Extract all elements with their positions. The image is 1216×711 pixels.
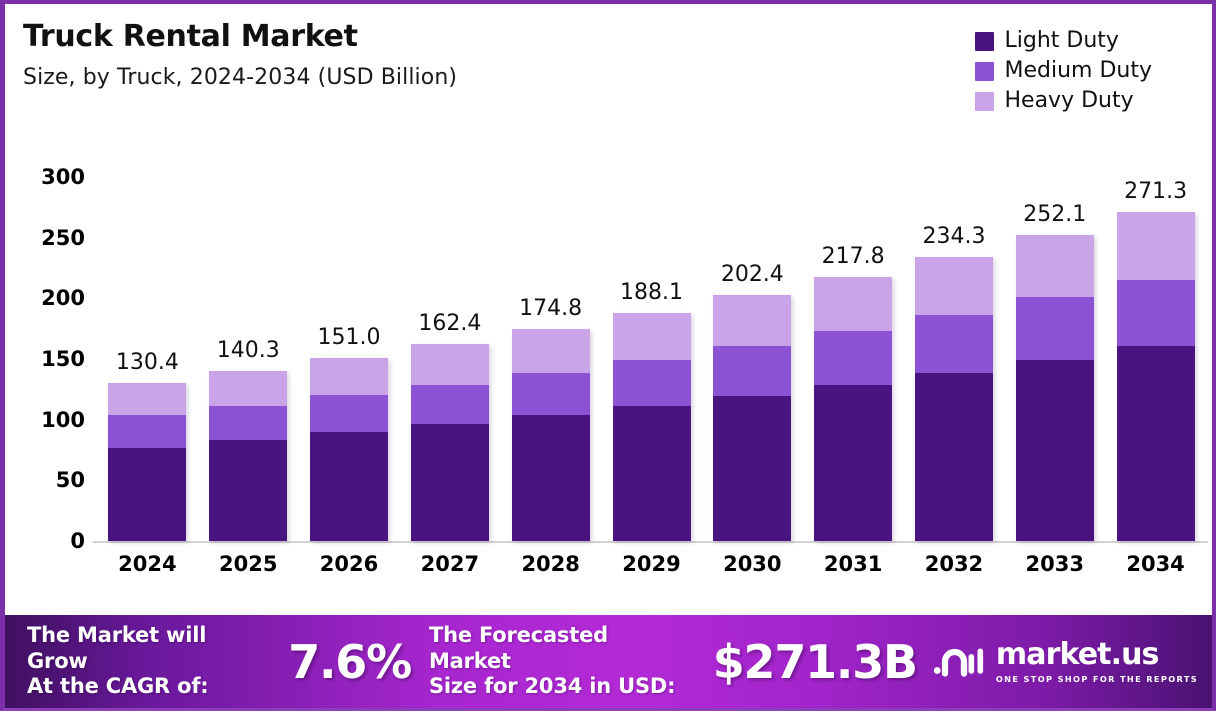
bar-group[interactable]: 252.1 <box>1016 235 1094 541</box>
page-title: Truck Rental Market <box>23 20 457 53</box>
stacked-bar[interactable] <box>512 329 590 541</box>
legend-swatch-icon <box>975 32 994 51</box>
bar-segment[interactable] <box>310 358 388 396</box>
bar-segment[interactable] <box>613 313 691 360</box>
bar-segment[interactable] <box>613 406 691 541</box>
chart-subtitle: Size, by Truck, 2024-2034 (USD Billion) <box>23 65 457 90</box>
legend-item[interactable]: Medium Duty <box>975 60 1153 82</box>
stacked-bar[interactable] <box>713 295 791 541</box>
y-axis-tick-label: 100 <box>41 408 85 432</box>
footer-banner: The Market will Grow At the CAGR of: 7.6… <box>5 615 1212 708</box>
bar-group[interactable]: 174.8 <box>512 329 590 541</box>
bar-segment[interactable] <box>512 329 590 373</box>
bar-group[interactable]: 140.3 <box>209 371 287 541</box>
brand-wordmark: market.us ONE STOP SHOP FOR THE REPORTS <box>996 640 1198 684</box>
bar-segment[interactable] <box>512 415 590 541</box>
forecast-caption: The Forecasted Market Size for 2034 in U… <box>429 623 691 700</box>
bar-group[interactable]: 202.4 <box>713 295 791 541</box>
bar-value-label: 188.1 <box>620 280 683 305</box>
bar-segment[interactable] <box>713 295 791 346</box>
legend-label: Light Duty <box>1005 30 1119 52</box>
bar-segment[interactable] <box>310 432 388 541</box>
x-axis-tick-label: 2033 <box>1026 552 1084 576</box>
bar-segment[interactable] <box>512 373 590 415</box>
bar-segment[interactable] <box>108 448 186 541</box>
x-axis: 2024202520262027202820292030203120322033… <box>97 552 1206 592</box>
bar-group[interactable]: 151.0 <box>310 358 388 541</box>
stacked-bar[interactable] <box>613 313 691 541</box>
stacked-bar[interactable] <box>310 358 388 541</box>
stacked-bar[interactable] <box>411 344 489 541</box>
x-axis-tick-label: 2025 <box>219 552 277 576</box>
bar-segment[interactable] <box>915 315 993 373</box>
bar-segment[interactable] <box>411 424 489 541</box>
cagr-value: 7.6% <box>288 635 411 689</box>
stacked-bar[interactable] <box>209 371 287 541</box>
y-axis-tick-label: 50 <box>56 468 85 492</box>
bar-segment[interactable] <box>713 396 791 541</box>
y-axis-tick-label: 0 <box>70 529 85 553</box>
y-axis: 050100150200250300 <box>5 154 97 544</box>
bar-segment[interactable] <box>814 385 892 541</box>
x-axis-tick-label: 2032 <box>925 552 983 576</box>
legend-swatch-icon <box>975 62 994 81</box>
bar-group[interactable]: 234.3 <box>915 257 993 541</box>
legend-swatch-icon <box>975 92 994 111</box>
bar-segment[interactable] <box>1117 346 1195 541</box>
bar-group[interactable]: 130.4 <box>108 383 186 541</box>
bars-zone: 130.4140.3151.0162.4174.8188.1202.4217.8… <box>97 154 1206 544</box>
bar-segment[interactable] <box>411 344 489 385</box>
x-axis-tick-label: 2034 <box>1126 552 1184 576</box>
bar-segment[interactable] <box>814 277 892 331</box>
bar-segment[interactable] <box>108 383 186 416</box>
bar-value-label: 217.8 <box>822 244 885 269</box>
bar-segment[interactable] <box>915 257 993 315</box>
bar-segment[interactable] <box>108 415 186 447</box>
market-us-logo-icon <box>933 642 985 682</box>
bar-segment[interactable] <box>915 373 993 541</box>
bar-value-label: 162.4 <box>418 311 481 336</box>
cagr-caption: The Market will Grow At the CAGR of: <box>27 623 268 700</box>
bar-segment[interactable] <box>814 331 892 385</box>
bar-segment[interactable] <box>1117 280 1195 347</box>
bar-segment[interactable] <box>209 406 287 440</box>
x-axis-tick-label: 2028 <box>521 552 579 576</box>
y-axis-tick-label: 250 <box>41 226 85 250</box>
y-axis-tick-label: 150 <box>41 347 85 371</box>
stacked-bar[interactable] <box>108 383 186 541</box>
stacked-bar[interactable] <box>814 277 892 541</box>
y-axis-tick-label: 200 <box>41 286 85 310</box>
x-axis-tick-label: 2024 <box>118 552 176 576</box>
bar-segment[interactable] <box>411 385 489 424</box>
bar-segment[interactable] <box>1016 360 1094 541</box>
bar-segment[interactable] <box>613 360 691 406</box>
bar-value-label: 202.4 <box>721 262 784 287</box>
plot-area: 050100150200250300 130.4140.3151.0162.41… <box>5 154 1212 609</box>
infographic-canvas: Truck Rental Market Size, by Truck, 2024… <box>0 0 1216 711</box>
x-axis-tick-label: 2029 <box>622 552 680 576</box>
bar-value-label: 151.0 <box>318 325 381 350</box>
x-axis-tick-label: 2030 <box>723 552 781 576</box>
legend-label: Medium Duty <box>1005 60 1153 82</box>
stacked-bar[interactable] <box>1117 212 1195 541</box>
bar-segment[interactable] <box>1117 212 1195 280</box>
bar-group[interactable]: 271.3 <box>1117 212 1195 541</box>
x-axis-tick-label: 2027 <box>421 552 479 576</box>
bar-segment[interactable] <box>209 371 287 406</box>
bar-group[interactable]: 217.8 <box>814 277 892 541</box>
chart-header: Truck Rental Market Size, by Truck, 2024… <box>23 20 457 90</box>
bar-value-label: 234.3 <box>922 224 985 249</box>
brand-logo[interactable]: market.us ONE STOP SHOP FOR THE REPORTS <box>933 640 1198 684</box>
bar-segment[interactable] <box>1016 235 1094 297</box>
brand-name: market.us <box>996 640 1198 670</box>
x-axis-tick-label: 2031 <box>824 552 882 576</box>
bar-value-label: 174.8 <box>519 296 582 321</box>
bar-value-label: 140.3 <box>217 338 280 363</box>
bar-segment[interactable] <box>1016 297 1094 359</box>
y-axis-tick-label: 300 <box>41 165 85 189</box>
bar-value-label: 252.1 <box>1023 202 1086 227</box>
brand-tagline: ONE STOP SHOP FOR THE REPORTS <box>996 674 1198 684</box>
stacked-bar[interactable] <box>915 257 993 541</box>
bar-group[interactable]: 162.4 <box>411 344 489 541</box>
legend-item[interactable]: Light Duty <box>975 30 1153 52</box>
stacked-bar[interactable] <box>1016 235 1094 541</box>
legend-item[interactable]: Heavy Duty <box>975 90 1153 112</box>
bar-value-label: 271.3 <box>1124 179 1187 204</box>
legend-label: Heavy Duty <box>1005 90 1134 112</box>
bar-segment[interactable] <box>713 346 791 396</box>
x-axis-tick-label: 2026 <box>320 552 378 576</box>
bar-segment[interactable] <box>310 395 388 432</box>
chart-legend: Light DutyMedium DutyHeavy Duty <box>975 30 1153 112</box>
bar-value-label: 130.4 <box>116 350 179 375</box>
bar-segment[interactable] <box>209 440 287 541</box>
bar-group[interactable]: 188.1 <box>613 313 691 541</box>
forecast-value: $271.3B <box>713 635 917 689</box>
